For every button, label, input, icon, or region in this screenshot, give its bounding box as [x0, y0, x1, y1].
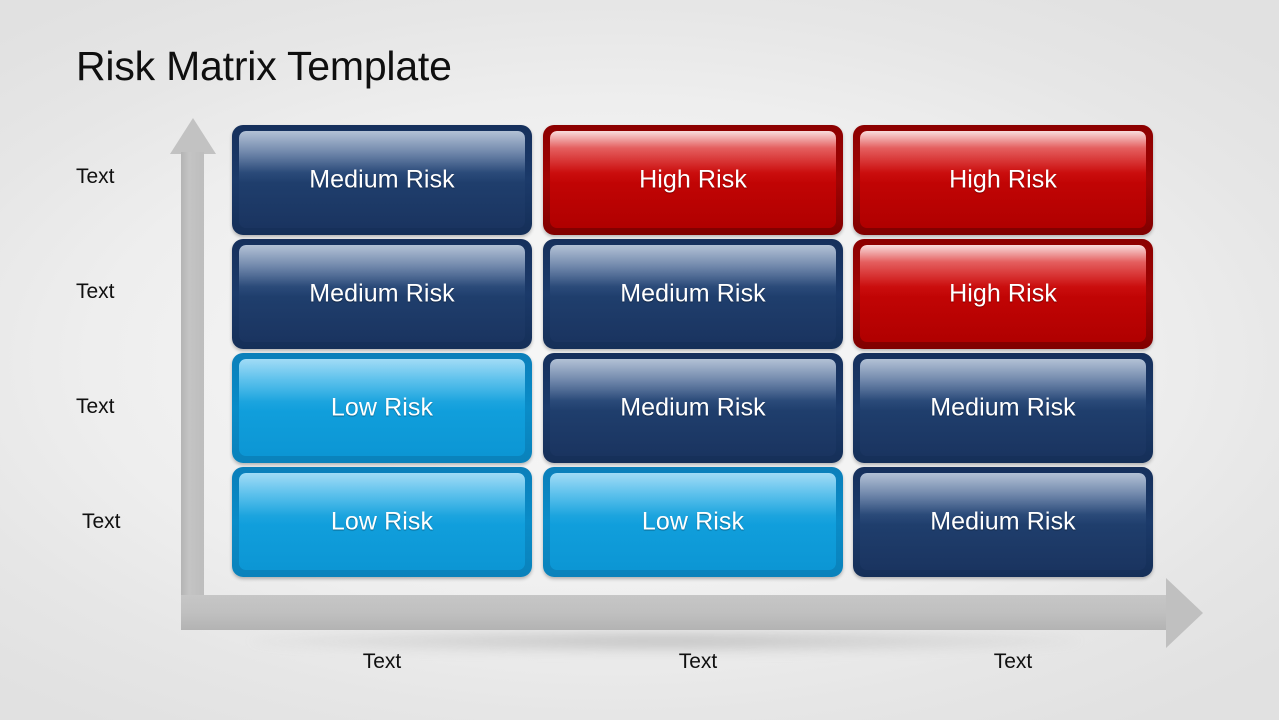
- matrix-cell-r3c1[interactable]: Low Risk: [232, 353, 532, 463]
- cell-label: Low Risk: [543, 508, 843, 537]
- cell-label: Medium Risk: [853, 394, 1153, 423]
- cell-label: High Risk: [543, 166, 843, 195]
- matrix-cell-r2c2[interactable]: Medium Risk: [543, 239, 843, 349]
- cell-label: Medium Risk: [232, 166, 532, 195]
- column-label-1: Text: [332, 650, 432, 674]
- matrix-cell-r4c1[interactable]: Low Risk: [232, 467, 532, 577]
- matrix-cell-r1c2[interactable]: High Risk: [543, 125, 843, 235]
- cell-label: Medium Risk: [543, 280, 843, 309]
- page-title: Risk Matrix Template: [76, 43, 452, 90]
- matrix-cell-r2c3[interactable]: High Risk: [853, 239, 1153, 349]
- cell-label: Medium Risk: [543, 394, 843, 423]
- matrix-cell-r1c1[interactable]: Medium Risk: [232, 125, 532, 235]
- matrix-cell-r4c3[interactable]: Medium Risk: [853, 467, 1153, 577]
- arrow-right-icon: [1166, 578, 1203, 648]
- risk-matrix-grid: Medium Risk High Risk High Risk Medium R…: [232, 125, 1154, 578]
- matrix-cell-r3c2[interactable]: Medium Risk: [543, 353, 843, 463]
- cell-label: Low Risk: [232, 394, 532, 423]
- column-label-2: Text: [648, 650, 748, 674]
- column-label-3: Text: [963, 650, 1063, 674]
- cell-label: High Risk: [853, 280, 1153, 309]
- matrix-cell-r2c1[interactable]: Medium Risk: [232, 239, 532, 349]
- horizontal-axis-shaft: [181, 595, 1166, 630]
- matrix-cell-r4c2[interactable]: Low Risk: [543, 467, 843, 577]
- row-label-2: Text: [76, 280, 115, 304]
- cell-label: Medium Risk: [232, 280, 532, 309]
- slide-canvas: Risk Matrix Template Text Text Text Text…: [0, 0, 1279, 720]
- row-label-4: Text: [82, 510, 121, 534]
- cell-label: Medium Risk: [853, 508, 1153, 537]
- vertical-axis-shaft: [181, 152, 204, 630]
- row-label-3: Text: [76, 395, 115, 419]
- arrow-up-icon: [170, 118, 216, 154]
- cell-label: High Risk: [853, 166, 1153, 195]
- row-label-1: Text: [76, 165, 115, 189]
- matrix-cell-r1c3[interactable]: High Risk: [853, 125, 1153, 235]
- matrix-cell-r3c3[interactable]: Medium Risk: [853, 353, 1153, 463]
- cell-label: Low Risk: [232, 508, 532, 537]
